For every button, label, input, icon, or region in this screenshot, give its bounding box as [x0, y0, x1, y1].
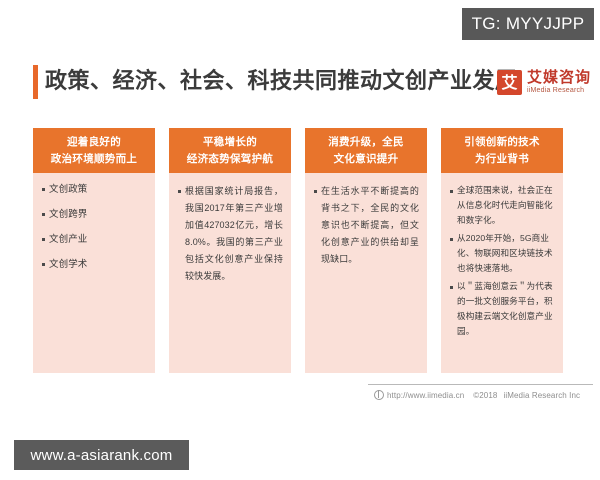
footer-divider	[368, 384, 593, 385]
card-3-body: 在生活水平不断提高的背书之下，全民的文化意识也不断提高，但文化创意产业的供给却呈…	[305, 173, 427, 373]
bullet-dot-icon	[450, 238, 453, 241]
card-4-bullet-3: 以＂蓝海创意云＂为代表的一批文创服务平台，积极构建云端文化创意产业园。	[457, 279, 555, 339]
card-3-bullet-1: 在生活水平不断提高的背书之下，全民的文化意识也不断提高，但文化创意产业的供给却呈…	[321, 183, 419, 268]
card-1-bullet-1: 文创政策	[49, 183, 87, 196]
card-3-header-line-2: 文化意识提升	[334, 151, 399, 168]
footer-company: iiMedia Research Inc	[503, 391, 580, 400]
list-item: 文创学术	[42, 258, 147, 271]
footer-content: http://www.iimedia.cn ©2018 iiMedia Rese…	[374, 390, 580, 400]
list-item: 全球范围来说，社会正在从信息化时代走向智能化和数字化。	[450, 183, 555, 228]
card-1-header: 迎着良好的 政治环境顺势而上	[33, 128, 155, 173]
slide-footer: http://www.iimedia.cn ©2018 iiMedia Rese…	[368, 384, 593, 412]
bullet-dot-icon	[450, 190, 453, 193]
card-2-body: 根据国家统计局报告，我国2017年第三产业增加值427032亿元，增长8.0%。…	[169, 173, 291, 373]
bullet-dot-icon	[42, 188, 45, 191]
card-2-bullet-1: 根据国家统计局报告，我国2017年第三产业增加值427032亿元，增长8.0%。…	[185, 183, 283, 285]
brand-name-en: iiMedia Research	[527, 86, 591, 95]
bullet-dot-icon	[42, 238, 45, 241]
bullet-dot-icon	[450, 286, 453, 289]
list-item: 文创政策	[42, 183, 147, 196]
bullet-dot-icon	[178, 190, 181, 193]
page-title: 政策、经济、社会、科技共同推动文创产业发展	[45, 64, 518, 98]
bullet-dot-icon	[314, 190, 317, 193]
site-url-watermark-label: www.a-asiarank.com	[31, 447, 173, 464]
card-2-header: 平稳增长的 经济态势保驾护航	[169, 128, 291, 173]
list-item: 以＂蓝海创意云＂为代表的一批文创服务平台，积极构建云端文化创意产业园。	[450, 279, 555, 339]
list-item: 从2020年开始，5G商业化、物联网和区块链技术也将快速落地。	[450, 231, 555, 276]
telegram-watermark-label: TG: MYYJJPP	[472, 14, 585, 34]
brand-logo: 艾 艾媒咨询 iiMedia Research	[497, 70, 591, 95]
list-item: 在生活水平不断提高的背书之下，全民的文化意识也不断提高，但文化创意产业的供给却呈…	[314, 183, 419, 268]
bullet-dot-icon	[42, 213, 45, 216]
card-3-header-line-1: 消费升级，全民	[328, 134, 404, 151]
card-3-header: 消费升级，全民 文化意识提升	[305, 128, 427, 173]
card-4: 引领创新的技术 为行业背书 全球范围来说，社会正在从信息化时代走向智能化和数字化…	[441, 128, 563, 373]
list-item: 根据国家统计局报告，我国2017年第三产业增加值427032亿元，增长8.0%。…	[178, 183, 283, 285]
card-3: 消费升级，全民 文化意识提升 在生活水平不断提高的背书之下，全民的文化意识也不断…	[305, 128, 427, 373]
card-1-bullet-3: 文创产业	[49, 233, 87, 246]
card-1-header-line-2: 政治环境顺势而上	[51, 151, 137, 168]
card-1-bullet-2: 文创跨界	[49, 208, 87, 221]
card-4-bullet-1: 全球范围来说，社会正在从信息化时代走向智能化和数字化。	[457, 183, 555, 228]
list-item: 文创产业	[42, 233, 147, 246]
card-2-header-line-1: 平稳增长的	[203, 134, 257, 151]
site-url-watermark: www.a-asiarank.com	[14, 440, 189, 470]
bullet-dot-icon	[42, 263, 45, 266]
card-1-body: 文创政策 文创跨界 文创产业 文创学术	[33, 173, 155, 373]
card-1-bullet-4: 文创学术	[49, 258, 87, 271]
card-2: 平稳增长的 经济态势保驾护航 根据国家统计局报告，我国2017年第三产业增加值4…	[169, 128, 291, 373]
list-item: 文创跨界	[42, 208, 147, 221]
telegram-watermark-badge: TG: MYYJJPP	[462, 8, 594, 40]
footer-copyright: ©2018	[473, 391, 497, 400]
card-4-header: 引领创新的技术 为行业背书	[441, 128, 563, 173]
card-4-header-line-1: 引领创新的技术	[464, 134, 540, 151]
globe-icon	[374, 390, 384, 400]
card-2-header-line-2: 经济态势保驾护航	[187, 151, 273, 168]
slide-canvas: 政策、经济、社会、科技共同推动文创产业发展 艾 艾媒咨询 iiMedia Res…	[0, 44, 600, 436]
card-1-header-line-1: 迎着良好的	[67, 134, 121, 151]
card-4-header-line-2: 为行业背书	[475, 151, 529, 168]
slide-header: 政策、经济、社会、科技共同推动文创产业发展 艾 艾媒咨询 iiMedia Res…	[0, 56, 600, 108]
card-1: 迎着良好的 政治环境顺势而上 文创政策 文创跨界 文创产业 文	[33, 128, 155, 373]
brand-mark-icon: 艾	[497, 70, 522, 95]
brand-name-cn: 艾媒咨询	[527, 70, 591, 86]
brand-text-group: 艾媒咨询 iiMedia Research	[527, 70, 591, 95]
cards-row: 迎着良好的 政治环境顺势而上 文创政策 文创跨界 文创产业 文	[33, 128, 563, 373]
card-4-bullet-2: 从2020年开始，5G商业化、物联网和区块链技术也将快速落地。	[457, 231, 555, 276]
card-4-body: 全球范围来说，社会正在从信息化时代走向智能化和数字化。 从2020年开始，5G商…	[441, 173, 563, 373]
footer-url: http://www.iimedia.cn	[387, 391, 464, 400]
title-accent-bar	[33, 65, 38, 99]
